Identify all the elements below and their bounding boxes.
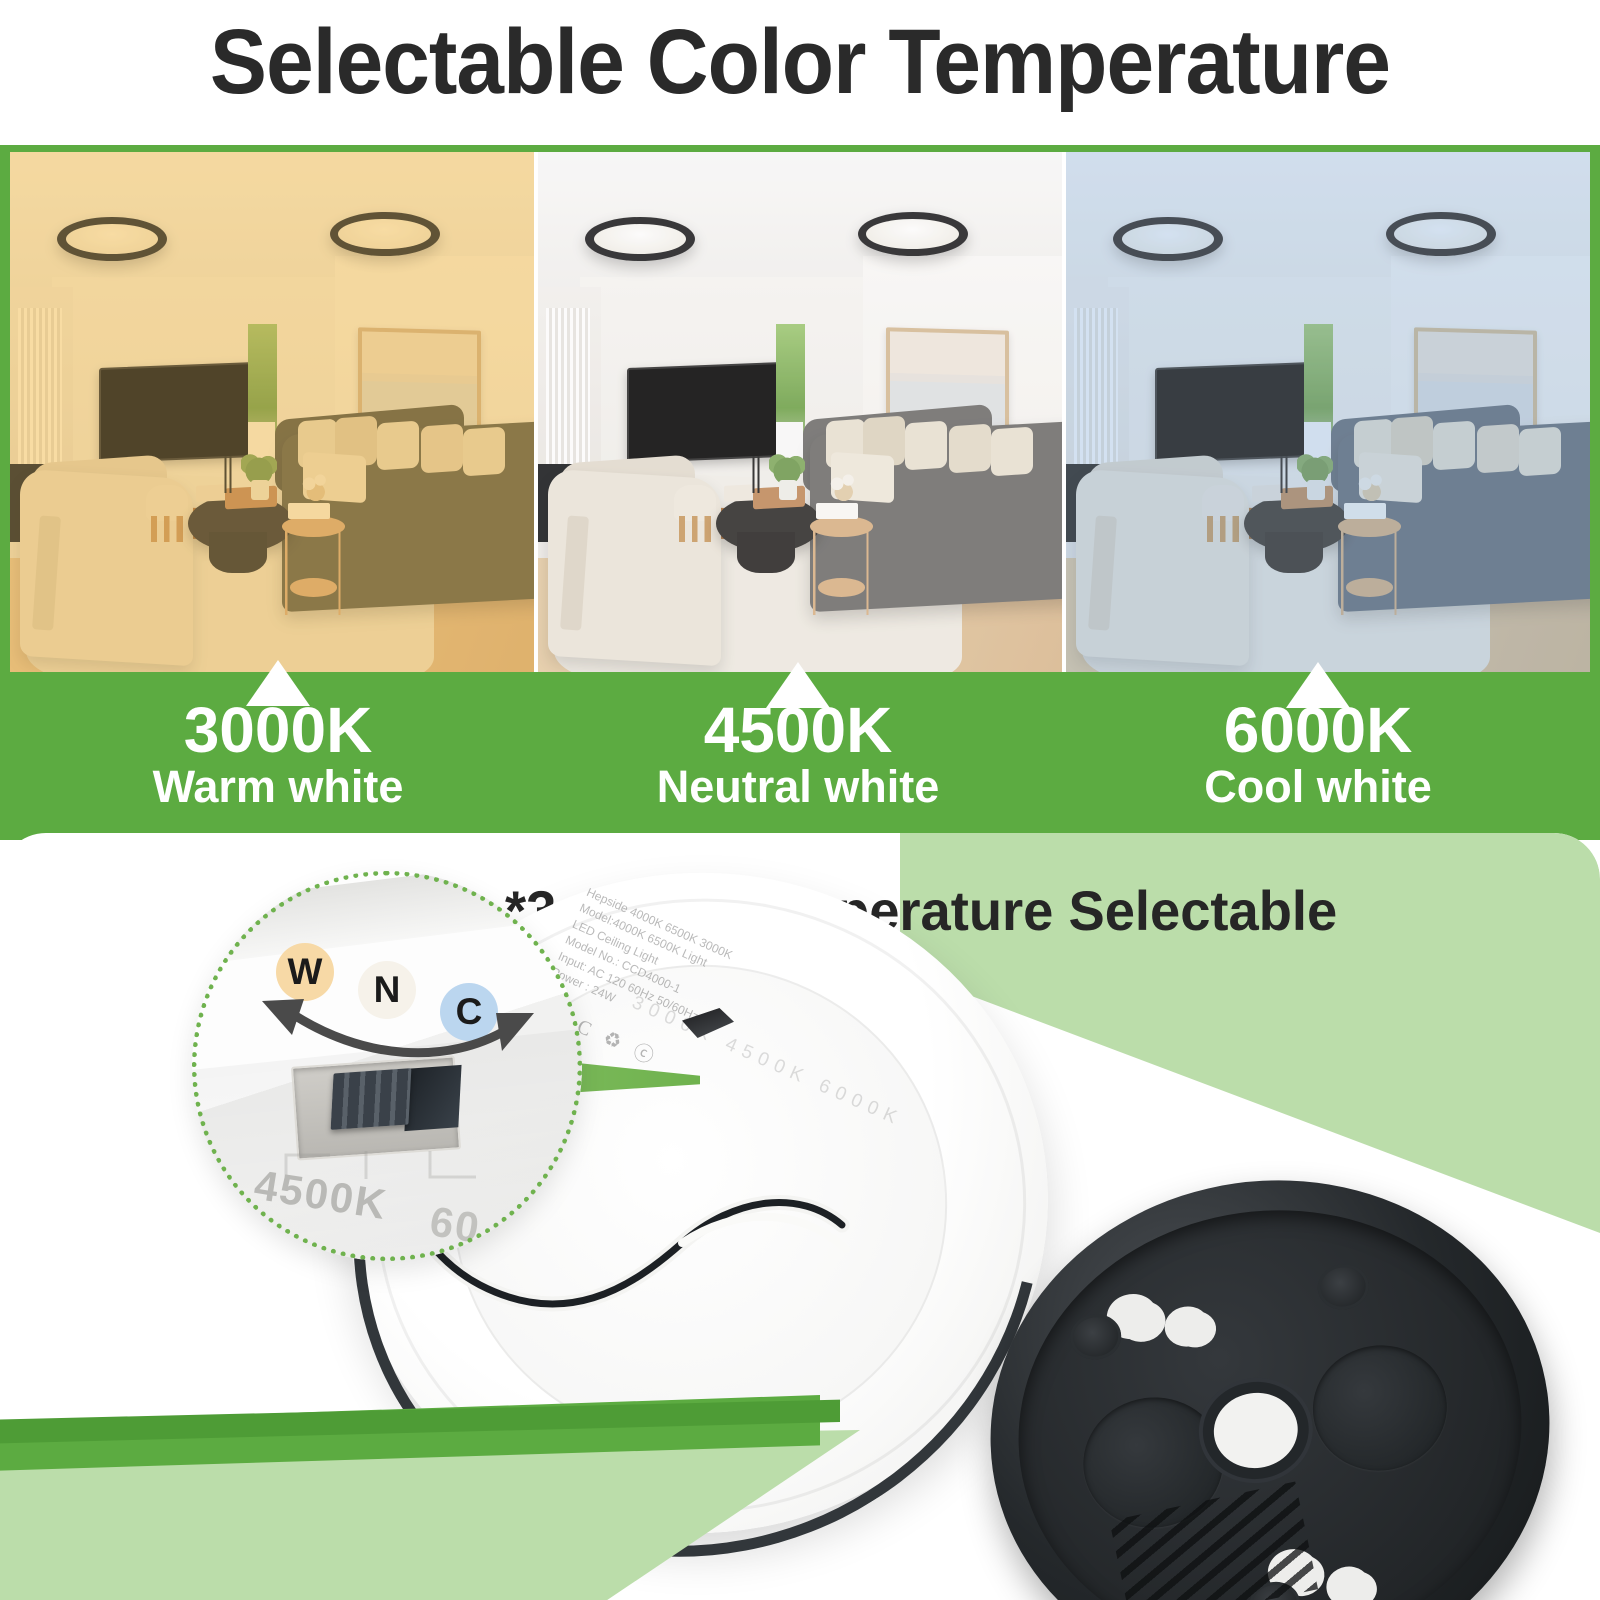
side-table-legs <box>813 526 871 614</box>
ottoman-legs <box>679 516 710 542</box>
temp-name-4500k: Neutral white <box>598 763 998 810</box>
vase <box>779 480 797 501</box>
page-title: Selectable Color Temperature <box>56 2 1544 122</box>
ceiling-light-icon <box>585 217 695 261</box>
cushion <box>991 426 1033 476</box>
cushion <box>949 424 991 474</box>
label-3000k: 3000K Warm white <box>78 698 478 811</box>
cool-glow-overlay <box>1066 152 1590 672</box>
living-room-scene-neutral <box>538 152 1062 672</box>
cushion <box>905 421 947 471</box>
wall-tv <box>627 362 783 463</box>
living-room-scene-cool <box>1066 152 1590 672</box>
flower-arrangement <box>826 469 863 505</box>
temp-value-4500k: 4500K <box>598 698 998 763</box>
scene-panel-3000k <box>10 152 534 672</box>
temp-name-3000k: Warm white <box>78 763 478 810</box>
temp-value-6000k: 6000K <box>1118 698 1518 763</box>
temp-name-6000k: Cool white <box>1118 763 1518 810</box>
side-table-shelf <box>818 578 865 596</box>
candlesticks <box>745 456 766 492</box>
scene-panel-4500k <box>534 152 1062 672</box>
warm-glow-overlay <box>10 152 534 672</box>
color-temperature-photo-row <box>10 152 1590 672</box>
ceiling-light-icon <box>858 212 968 256</box>
side-table-top <box>810 516 873 537</box>
infographic-canvas: Selectable Color Temperature <box>0 0 1600 1600</box>
label-6000k: 6000K Cool white <box>1118 698 1518 811</box>
living-room-scene-warm <box>10 152 534 672</box>
scene-panel-6000k <box>1062 152 1590 672</box>
label-4500k: 4500K Neutral white <box>598 698 998 811</box>
temp-value-3000k: 3000K <box>78 698 478 763</box>
coffee-table-base <box>737 532 795 574</box>
magnifier-dotted-ring <box>192 871 582 1261</box>
